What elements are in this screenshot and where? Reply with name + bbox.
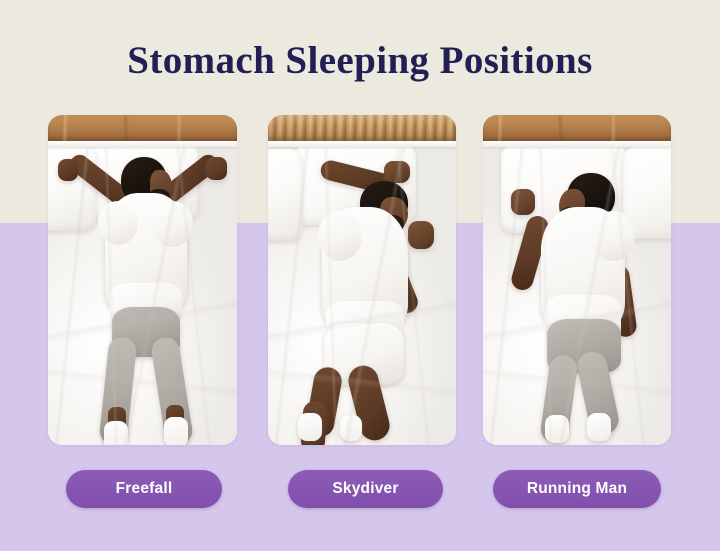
photo-panel-skydiver[interactable] (268, 115, 456, 445)
page-title: Stomach Sleeping Positions (0, 38, 720, 85)
headboard-wood (48, 115, 237, 141)
photo-panel-freefall[interactable] (48, 115, 237, 445)
sheet-wrinkles (48, 115, 237, 445)
sheet-wrinkles (483, 115, 671, 445)
label-freefall[interactable]: Freefall (66, 470, 222, 508)
label-running-man[interactable]: Running Man (493, 470, 661, 508)
sheet-edge (48, 141, 237, 147)
infographic-root: Stomach Sleeping Positions (0, 0, 720, 551)
sheet-edge (268, 141, 456, 147)
headboard-wood (483, 115, 671, 141)
headboard-rattan (268, 115, 456, 141)
label-skydiver[interactable]: Skydiver (288, 470, 443, 508)
sheet-edge (483, 141, 671, 147)
bed-scene-running-man (483, 115, 671, 445)
label-group: Freefall Skydiver Running Man (0, 470, 720, 508)
photo-panel-group (0, 115, 720, 445)
photo-panel-running-man[interactable] (483, 115, 671, 445)
bed-scene-skydiver (268, 115, 456, 445)
sheet-wrinkles (268, 115, 456, 445)
bed-scene-freefall (48, 115, 237, 445)
